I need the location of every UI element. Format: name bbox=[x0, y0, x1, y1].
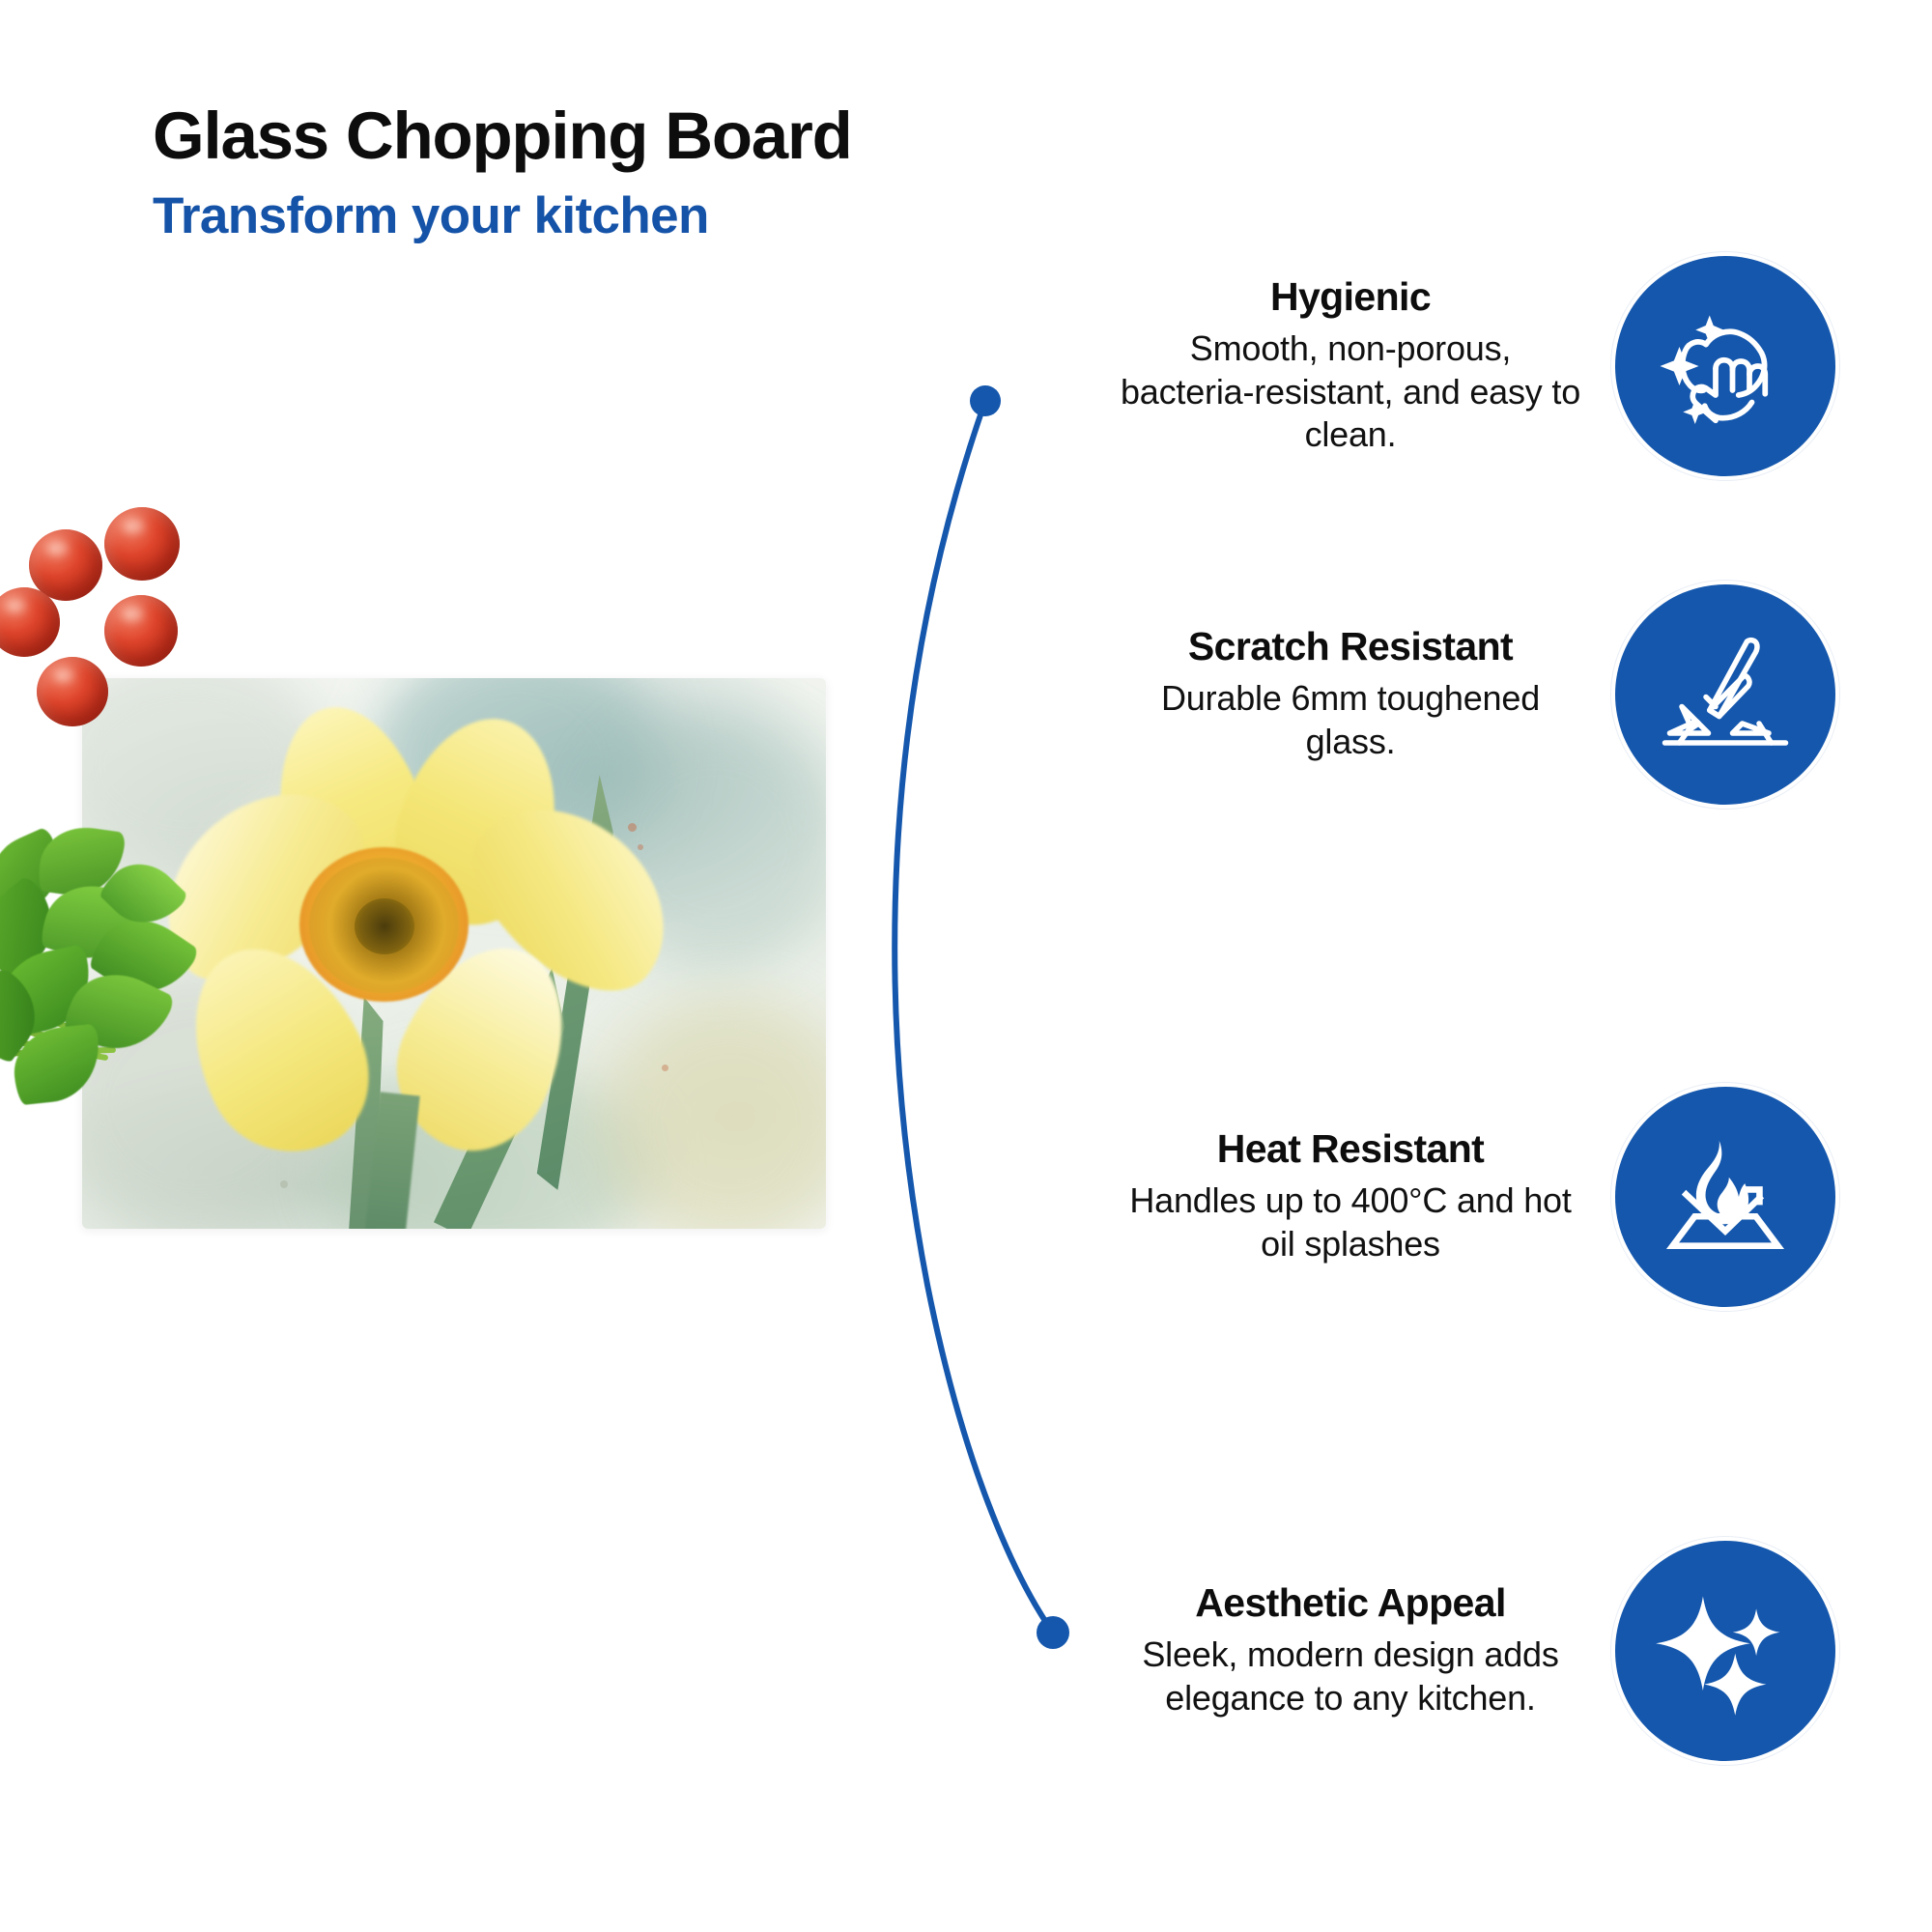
connector-top-dot bbox=[970, 385, 1001, 416]
knife-scratch-icon bbox=[1615, 584, 1835, 805]
header-block: Glass Chopping Board Transform your kitc… bbox=[153, 101, 1022, 245]
feature-text-block: Hygienic Smooth, non-porous, bacteria-re… bbox=[1119, 275, 1615, 457]
hand-wipe-sparkle-icon bbox=[1615, 256, 1835, 476]
feature-title: Aesthetic Appeal bbox=[1119, 1581, 1582, 1626]
feature-description: Smooth, non-porous, bacteria-resistant, … bbox=[1119, 327, 1582, 457]
cherry-tomato bbox=[37, 657, 108, 726]
feature-hygienic: Hygienic Smooth, non-porous, bacteria-re… bbox=[1063, 256, 1835, 476]
feature-description: Durable 6mm toughened glass. bbox=[1119, 677, 1582, 763]
feature-title: Heat Resistant bbox=[1119, 1127, 1582, 1172]
parsley-bunch bbox=[0, 821, 222, 1111]
feature-aesthetic-appeal: Aesthetic Appeal Sleek, modern design ad… bbox=[1063, 1541, 1835, 1761]
page-subtitle: Transform your kitchen bbox=[153, 188, 1022, 244]
product-photo bbox=[0, 599, 850, 1391]
feature-description: Sleek, modern design adds elegance to an… bbox=[1119, 1634, 1582, 1719]
feature-text-block: Scratch Resistant Durable 6mm toughened … bbox=[1119, 625, 1615, 763]
feature-title: Hygienic bbox=[1119, 275, 1582, 320]
feature-text-block: Heat Resistant Handles up to 400°C and h… bbox=[1119, 1127, 1615, 1265]
infographic-canvas: Glass Chopping Board Transform your kitc… bbox=[0, 0, 1932, 1932]
flame-deflect-icon bbox=[1615, 1087, 1835, 1307]
feature-heat-resistant: Heat Resistant Handles up to 400°C and h… bbox=[1063, 1087, 1835, 1307]
sparkles-icon bbox=[1615, 1541, 1835, 1761]
cherry-tomato bbox=[104, 507, 180, 581]
feature-description: Handles up to 400°C and hot oil splashes bbox=[1119, 1179, 1582, 1265]
feature-scratch-resistant: Scratch Resistant Durable 6mm toughened … bbox=[1063, 584, 1835, 805]
connector-path bbox=[895, 401, 1053, 1633]
feature-title: Scratch Resistant bbox=[1119, 625, 1582, 669]
feature-text-block: Aesthetic Appeal Sleek, modern design ad… bbox=[1119, 1581, 1615, 1719]
cherry-tomato bbox=[104, 595, 178, 667]
page-title: Glass Chopping Board bbox=[153, 101, 1022, 171]
